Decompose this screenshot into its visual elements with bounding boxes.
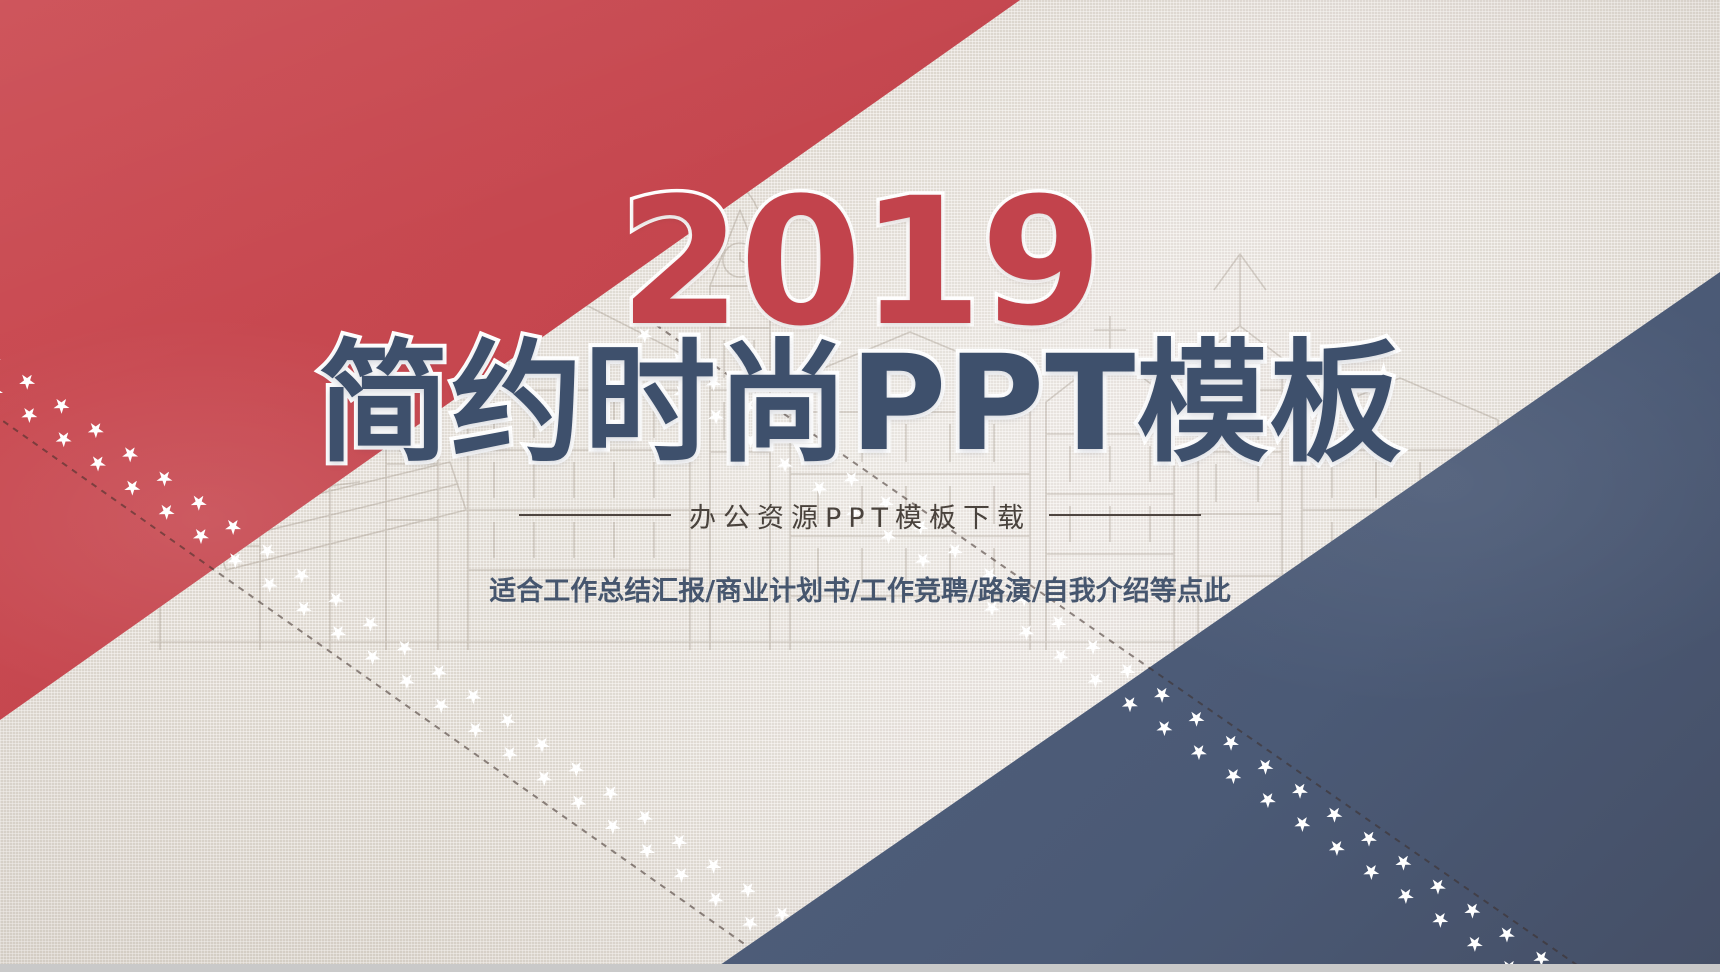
presentation-title-slide: 2019 简约时尚PPT模板 办公资源PPT模板下载 适合工作总结汇报/商业计划… — [0, 0, 1720, 972]
bottom-strip — [0, 964, 1720, 972]
